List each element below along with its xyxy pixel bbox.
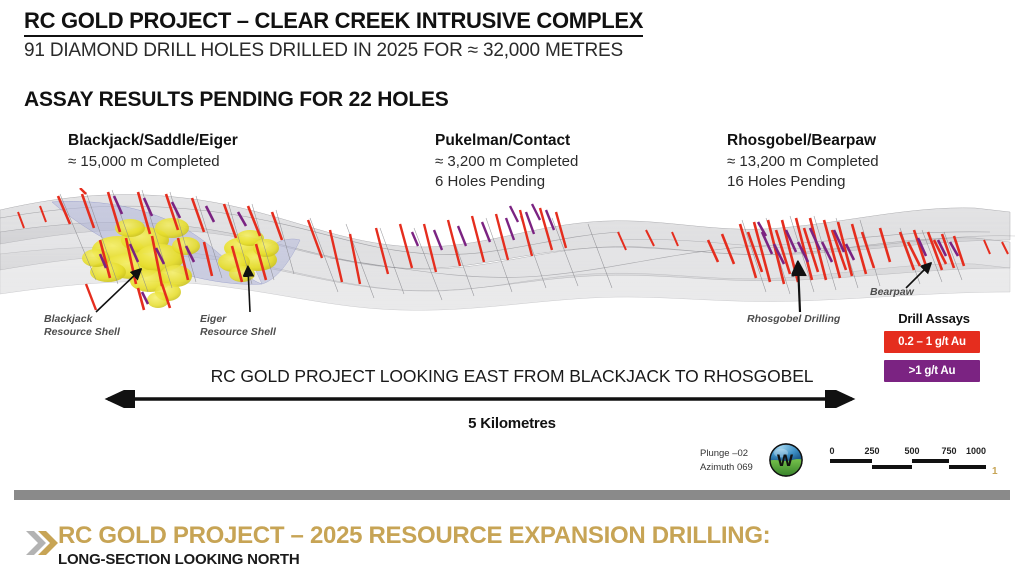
double-chevron-icon <box>24 528 62 558</box>
plunge-value: Plunge –02 <box>700 447 753 461</box>
svg-text:W: W <box>777 451 794 470</box>
slide-divider <box>14 490 1010 500</box>
annotation-line: Blackjack <box>44 313 120 326</box>
annotation-rhosgobel-drilling: Rhosgobel Drilling <box>747 313 840 326</box>
zone-blackjack: Blackjack/Saddle/Eiger ≈ 15,000 m Comple… <box>68 131 238 172</box>
distance-arrow <box>100 390 860 408</box>
section-caption: RC GOLD PROJECT LOOKING EAST FROM BLACKJ… <box>0 366 1024 387</box>
scalebar-tick: 1000 <box>966 446 986 456</box>
scalebar-tick: 250 <box>864 446 879 456</box>
arrow-eiger <box>248 268 250 312</box>
arrow-blackjack <box>96 270 140 312</box>
zone-pukelman: Pukelman/Contact ≈ 3,200 m Completed 6 H… <box>435 131 578 192</box>
zone-completed: ≈ 3,200 m Completed <box>435 152 578 172</box>
arrow-bearpaw <box>906 264 930 288</box>
legend-title: Drill Assays <box>884 311 984 326</box>
orientation-info: Plunge –02 Azimuth 069 <box>700 447 753 475</box>
zone-completed: ≈ 13,200 m Completed <box>727 152 879 172</box>
page-subtitle: 91 DIAMOND DRILL HOLES DRILLED IN 2025 F… <box>24 40 623 62</box>
azimuth-value: Azimuth 069 <box>700 461 753 475</box>
footer-title: RC GOLD PROJECT – 2025 RESOURCE EXPANSIO… <box>58 522 770 550</box>
slide-root: RC GOLD PROJECT – CLEAR CREEK INTRUSIVE … <box>0 0 1024 583</box>
scalebar-tick: 500 <box>904 446 919 456</box>
annotation-line: Eiger <box>200 313 276 326</box>
zone-rhosgobel: Rhosgobel/Bearpaw ≈ 13,200 m Completed 1… <box>727 131 879 192</box>
scalebar-tick: 0 <box>829 446 834 456</box>
annotation-bearpaw: Bearpaw <box>870 286 914 299</box>
zone-name: Rhosgobel/Bearpaw <box>727 131 879 152</box>
footer-subtitle: LONG-SECTION LOOKING NORTH <box>58 551 299 568</box>
scalebar-tick: 750 <box>941 446 956 456</box>
arrow-rhosgobel <box>798 264 800 312</box>
scale-distance-label: 5 Kilometres <box>0 415 1024 432</box>
annotation-line: Resource Shell <box>200 326 276 339</box>
zone-name: Pukelman/Contact <box>435 131 578 152</box>
map-scale-bar: 0 250 500 750 1000 <box>828 444 988 478</box>
compass-globe-icon: W <box>766 440 806 480</box>
zone-completed: ≈ 15,000 m Completed <box>68 152 238 172</box>
zone-name: Blackjack/Saddle/Eiger <box>68 131 238 152</box>
legend-item-low-grade: 0.2 – 1 g/t Au <box>884 331 980 353</box>
page-title: RC GOLD PROJECT – CLEAR CREEK INTRUSIVE … <box>24 8 643 37</box>
annotation-line: Resource Shell <box>44 326 120 339</box>
annotation-blackjack-resource-shell: Blackjack Resource Shell <box>44 313 120 340</box>
assay-results-heading: ASSAY RESULTS PENDING FOR 22 HOLES <box>24 88 449 112</box>
annotation-eiger-resource-shell: Eiger Resource Shell <box>200 313 276 340</box>
page-number: 1 <box>992 466 998 477</box>
